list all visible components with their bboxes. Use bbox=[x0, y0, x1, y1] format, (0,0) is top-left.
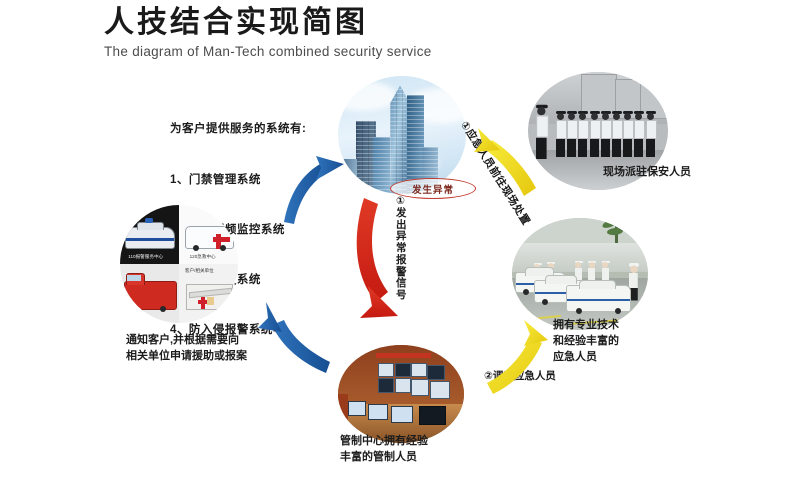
node-emergency-image: 110报警服务中心 120急救中心 客户/相关单位 bbox=[120, 205, 238, 323]
node-guards-caption: 现场派驻保安人员 bbox=[603, 165, 691, 181]
collage-police-car: 110报警服务中心 bbox=[120, 205, 179, 264]
collage-label-110: 110报警服务中心 bbox=[128, 254, 163, 260]
node-building-image bbox=[338, 76, 466, 194]
collage-fire-truck bbox=[120, 264, 179, 323]
page-subtitle: The diagram of Man-Tech combined securit… bbox=[104, 44, 432, 59]
node-control-image bbox=[338, 345, 464, 443]
collage-label-units: 客户/相关单位 bbox=[185, 268, 214, 274]
node-cars-image bbox=[512, 218, 648, 330]
collage-label-120: 120急救中心 bbox=[190, 254, 216, 260]
systems-panel-item-1: 1、门禁管理系统 bbox=[170, 172, 306, 189]
abnormal-badge-label: 发生异常 bbox=[412, 182, 454, 196]
title-block: 人技结合实现简图 The diagram of Man-Tech combine… bbox=[104, 6, 432, 59]
flow-label-step1-dispatch: ①应急人员前往现场处置 bbox=[457, 118, 534, 228]
collage-medical-tent: 客户/相关单位 bbox=[179, 264, 238, 323]
node-cars-caption: 拥有专业技术 和经验丰富的 应急人员 bbox=[553, 318, 619, 366]
collage-ambulance: 120急救中心 bbox=[179, 205, 238, 264]
node-emergency-caption: 通知客户,并根据需要向 相关单位申请援助或报案 bbox=[126, 333, 247, 365]
flow-label-step2-schedule: ②调度应急人员 bbox=[484, 368, 556, 383]
node-control-caption: 管制中心拥有经验 丰富的管制人员 bbox=[340, 434, 428, 466]
flow-label-step1-alarm: ①发出异常报警信号 bbox=[396, 196, 410, 302]
diagram-canvas: 人技结合实现简图 The diagram of Man-Tech combine… bbox=[0, 0, 802, 477]
arrow-alarm-to-control bbox=[357, 198, 398, 318]
page-title: 人技结合实现简图 bbox=[104, 6, 432, 41]
systems-panel-heading: 为客户提供服务的系统有: bbox=[170, 121, 306, 138]
